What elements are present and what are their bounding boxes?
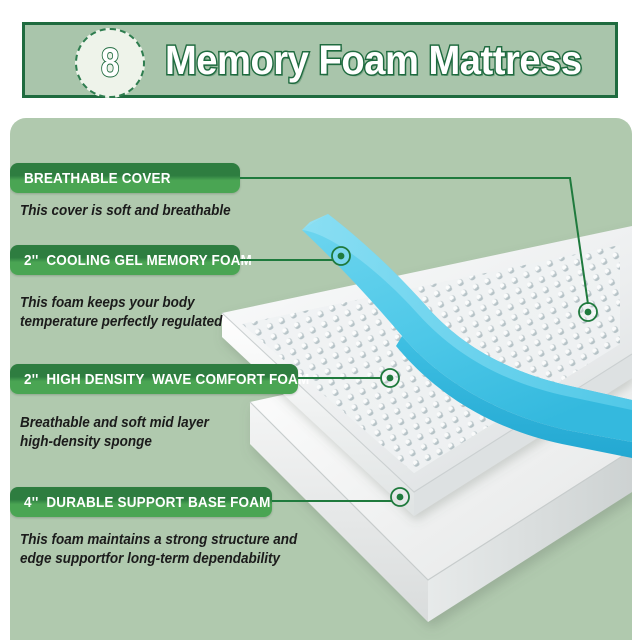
label-text-high-density-wave-comfort-foam: 2'' HIGH DENSITY WAVE COMFORT FOAM — [24, 372, 309, 387]
wave-texture — [210, 218, 632, 508]
page-title-text: Memory Foam Mattress — [165, 38, 582, 82]
label-pill-breathable-cover[interactable]: BREATHABLE COVER — [10, 163, 240, 193]
page-title: Memory Foam Mattress — [165, 38, 613, 82]
description-high-density-wave-comfort-foam: Breathable and soft mid layer high-densi… — [20, 414, 209, 452]
step-number-badge: 8 — [75, 28, 145, 98]
description-durable-support-base-foam: This foam maintains a strong structure a… — [20, 531, 297, 569]
label-text-durable-support-base-foam: 4'' DURABLE SUPPORT BASE FOAM — [24, 495, 271, 510]
infographic-root: 8 Memory Foam Mattress — [0, 0, 640, 640]
content-panel: BREATHABLE COVER This cover is soft and … — [10, 118, 632, 640]
label-text-cooling-gel-memory-foam: 2'' COOLING GEL MEMORY FOAM — [24, 253, 252, 268]
layer-base-foam — [250, 318, 632, 622]
layer-cooling-gel-cover — [302, 214, 632, 458]
label-pill-durable-support-base-foam[interactable]: 4'' DURABLE SUPPORT BASE FOAM — [10, 487, 272, 517]
step-number-text: 8 — [101, 43, 119, 83]
label-pill-cooling-gel-memory-foam[interactable]: 2'' COOLING GEL MEMORY FOAM — [10, 245, 240, 275]
header-banner: 8 Memory Foam Mattress — [22, 22, 618, 98]
description-breathable-cover: This cover is soft and breathable — [20, 202, 231, 221]
description-cooling-gel-memory-foam: This foam keeps your body temperature pe… — [20, 294, 222, 332]
label-pill-high-density-wave-comfort-foam[interactable]: 2'' HIGH DENSITY WAVE COMFORT FOAM — [10, 364, 298, 394]
label-text-breathable-cover: BREATHABLE COVER — [24, 171, 171, 186]
